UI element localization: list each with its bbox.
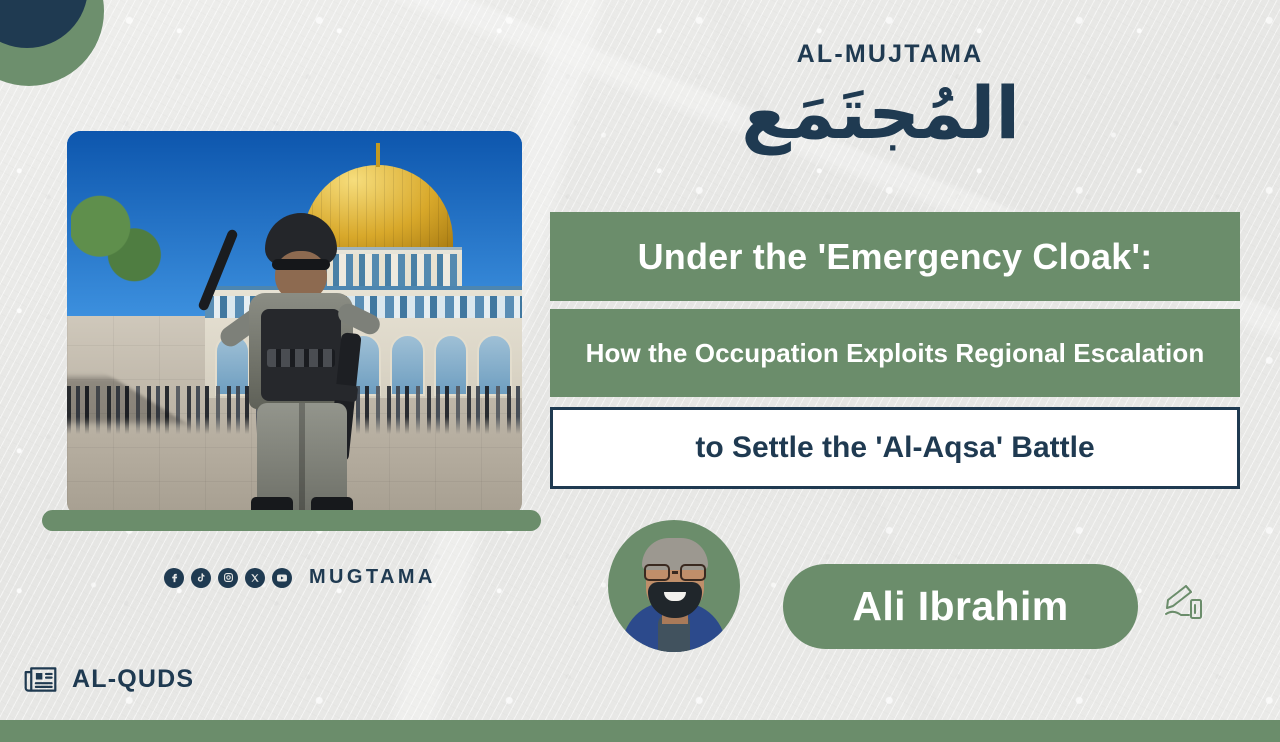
corner-decoration	[0, 0, 160, 120]
hero-photo	[67, 131, 522, 516]
al-quds-label: AL-QUDS	[72, 665, 194, 694]
avatar-glasses	[642, 564, 708, 581]
headline-line-2: How the Occupation Exploits Regional Esc…	[550, 309, 1240, 397]
social-media-row: MUGTAMA	[164, 566, 436, 589]
headline-block: Under the 'Emergency Cloak': How the Occ…	[550, 212, 1240, 489]
headline-line-3: to Settle the 'Al-Aqsa' Battle	[550, 407, 1240, 489]
instagram-icon[interactable]	[218, 568, 238, 588]
brand-latin-name: AL-MUJTAMA	[760, 42, 1020, 67]
headline-line-1: Under the 'Emergency Cloak':	[550, 212, 1240, 301]
author-name-pill: Ali Ibrahim	[783, 564, 1138, 649]
photo-underline-bar	[42, 510, 541, 531]
brand-logo: AL-MUJTAMA المُجتَمَع	[760, 42, 1020, 156]
avatar	[608, 520, 740, 652]
newspaper-icon	[22, 663, 59, 696]
facebook-icon[interactable]	[164, 568, 184, 588]
hand-writing-icon	[1164, 582, 1212, 626]
soldier-figure	[217, 213, 392, 516]
bottom-accent-bar	[0, 720, 1280, 742]
tiktok-icon[interactable]	[191, 568, 211, 588]
x-icon[interactable]	[245, 568, 265, 588]
photo-trees	[71, 191, 167, 301]
soldier-visor	[272, 259, 330, 270]
author-block: Ali Ibrahim	[608, 520, 1168, 652]
social-handle: MUGTAMA	[309, 566, 436, 589]
headline-divider	[550, 301, 1240, 309]
hero-photo-image	[67, 131, 522, 516]
al-quds-footer-logo: AL-QUDS	[22, 663, 194, 696]
youtube-icon[interactable]	[272, 568, 292, 588]
brand-arabic-name: المُجتَمَع	[760, 71, 1020, 156]
